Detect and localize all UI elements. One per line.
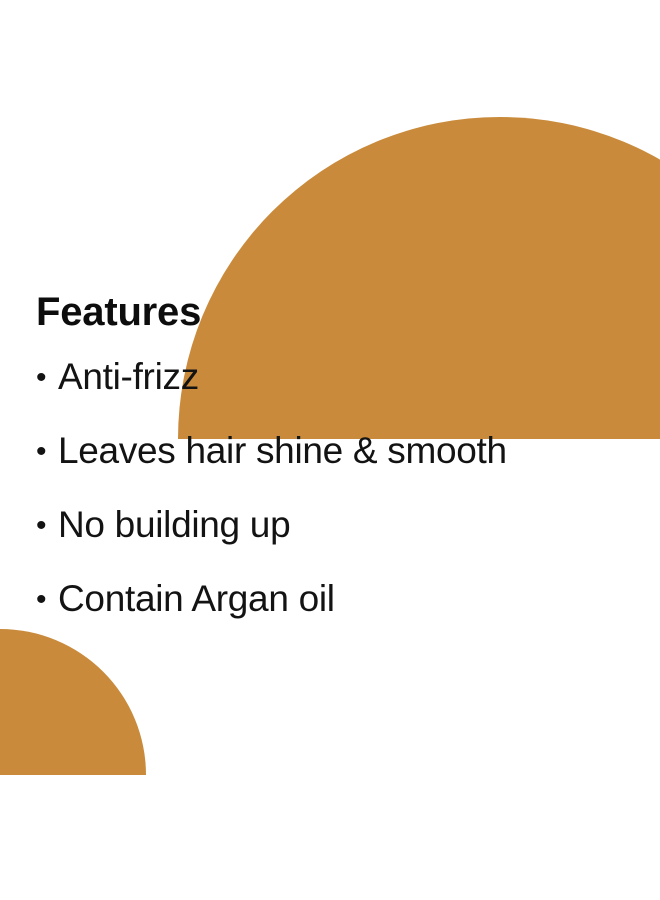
feature-label: Leaves hair shine & smooth [58, 432, 636, 469]
list-item: • No building up [36, 506, 636, 543]
feature-label: Contain Argan oil [58, 580, 636, 617]
list-item: • Leaves hair shine & smooth [36, 432, 636, 469]
features-content: Features • Anti-frizz • Leaves hair shin… [36, 292, 636, 617]
bullet-icon: • [36, 511, 58, 541]
orange-quarter-circle-decoration [0, 629, 146, 900]
features-heading: Features [36, 292, 636, 332]
bullet-icon: • [36, 437, 58, 467]
bullet-icon: • [36, 363, 58, 393]
feature-label: No building up [58, 506, 636, 543]
list-item: • Contain Argan oil [36, 580, 636, 617]
features-list: • Anti-frizz • Leaves hair shine & smoot… [36, 358, 636, 617]
list-item: • Anti-frizz [36, 358, 636, 395]
feature-label: Anti-frizz [58, 358, 636, 395]
bullet-icon: • [36, 585, 58, 615]
product-features-card: Features • Anti-frizz • Leaves hair shin… [0, 0, 660, 900]
